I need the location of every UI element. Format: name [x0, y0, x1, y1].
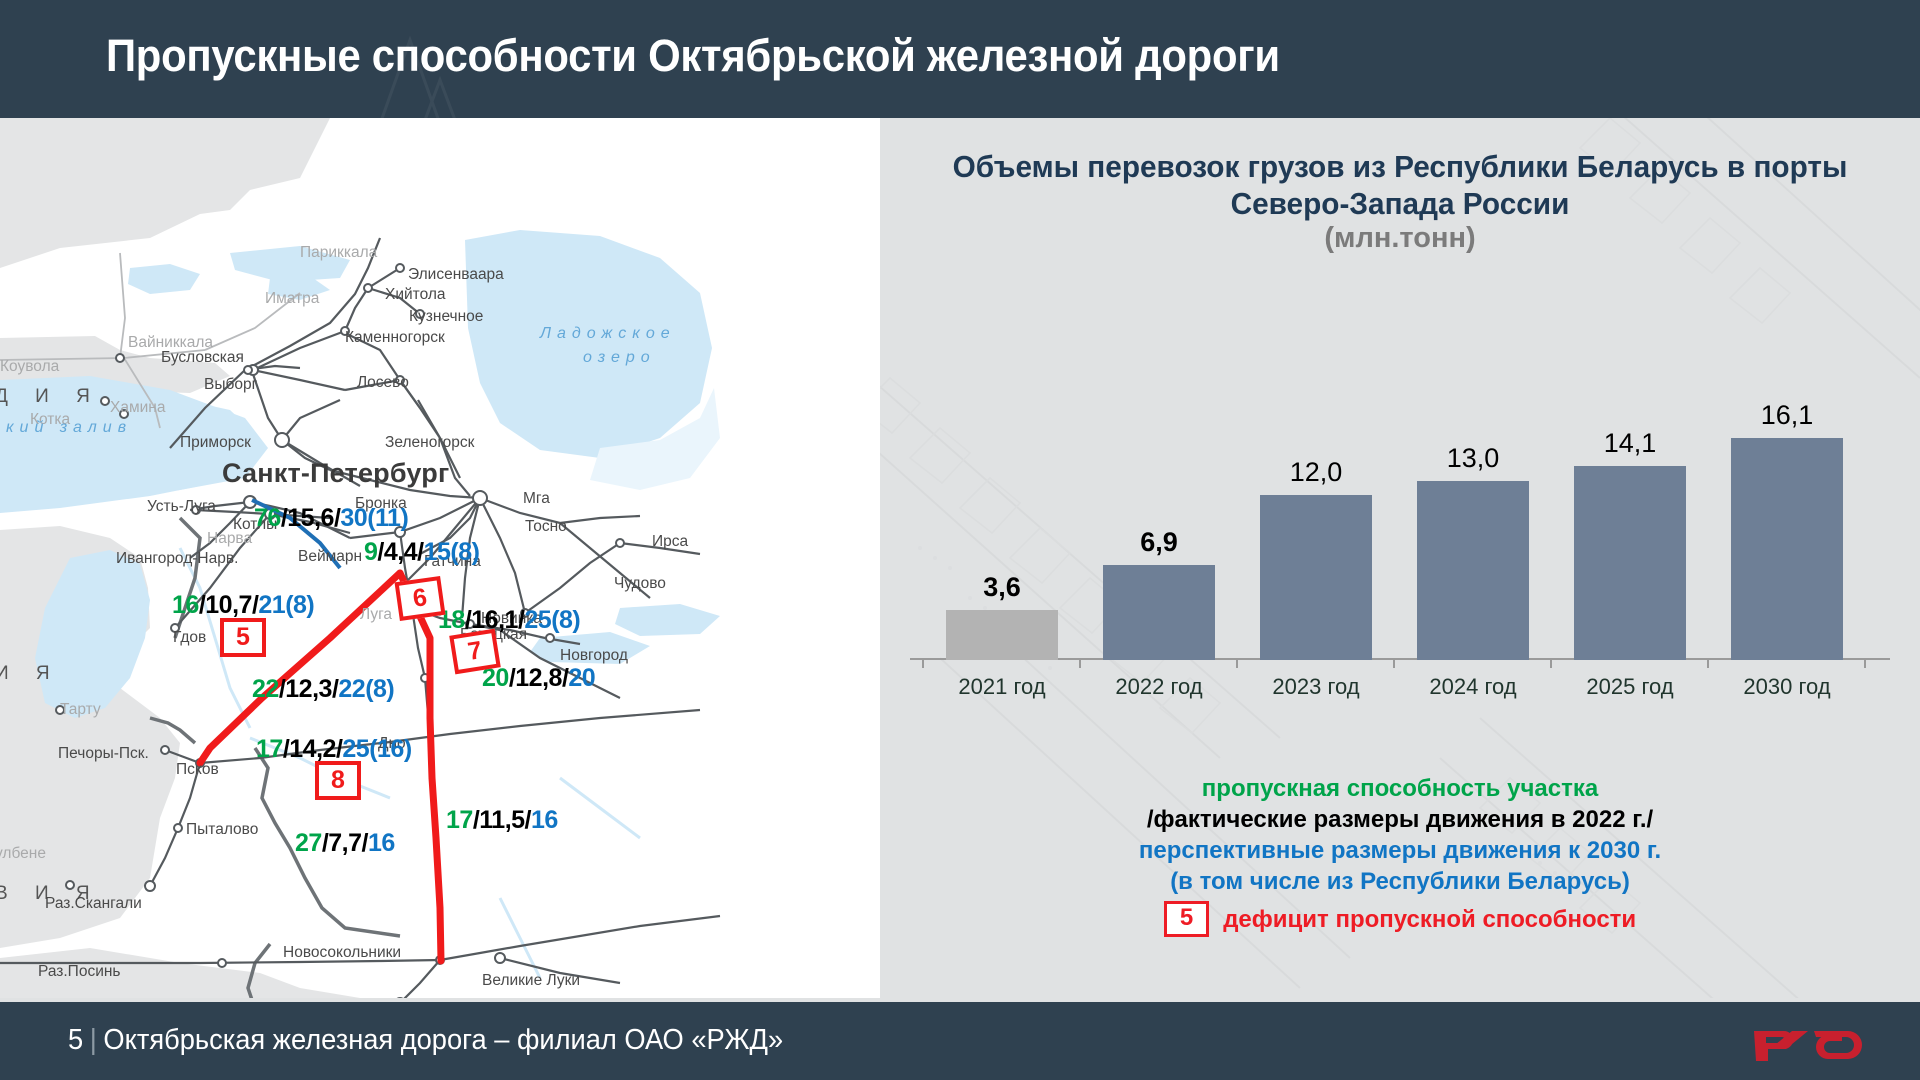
annot-forecast: 25(8) — [524, 606, 580, 634]
annot-vluki: 17/11,5/16 — [446, 806, 558, 835]
legend-line-deficit: дефицит пропускной способности — [1223, 904, 1636, 935]
map-deficit-box: 7 — [449, 629, 500, 675]
annot-gdov: 16/10,7/21(8) — [172, 591, 314, 620]
axis-tick — [1079, 659, 1081, 668]
annot-capacity: 76 — [254, 504, 281, 532]
annot-actual: 4,4 — [384, 538, 417, 566]
annot-capacity: 17 — [446, 806, 473, 834]
annot-actual: 12,3 — [285, 675, 332, 703]
category-label: 2024 год — [1398, 674, 1548, 700]
map-deficit-box: 5 — [220, 618, 266, 657]
annot-nevel: 27/7,7/16 — [295, 829, 395, 858]
annot-actual: 11,5 — [479, 806, 524, 834]
annot-actual: 10,7 — [205, 591, 252, 619]
annot-pytalovo: 17/14,2/25(16) — [256, 735, 412, 764]
annot-pskov: 22/12,3/22(8) — [252, 675, 394, 704]
annot-capacity: 9 — [364, 538, 377, 566]
legend-line-actual: /фактические размеры движения в 2022 г./ — [910, 804, 1890, 835]
bar-rect[interactable] — [946, 610, 1058, 660]
bar-value-label: 6,9 — [1140, 527, 1178, 558]
category-label: 2030 год — [1712, 674, 1862, 700]
footer-org-name: Октябрьская железная дорога – филиал ОАО… — [103, 1024, 783, 1056]
bar-rect[interactable] — [1731, 438, 1843, 660]
footer-separator: | — [83, 1024, 103, 1056]
annot-forecast: 16 — [531, 806, 558, 834]
chart-subtitle: (млн.тонн) — [910, 222, 1890, 255]
bar-column[interactable]: 6,9 — [1103, 527, 1215, 660]
footer-caption: 5|Октябрьская железная дорога – филиал О… — [68, 1024, 783, 1057]
axis-tick — [1707, 659, 1709, 668]
axis-tick — [1236, 659, 1238, 668]
bar-rect[interactable] — [1417, 481, 1529, 660]
page-title: Пропускные способности Октябрьской желез… — [106, 30, 1280, 82]
slide-root: Пропускные способности Октябрьской желез… — [0, 0, 1920, 1080]
annot-forecast: 25(16) — [342, 735, 411, 763]
annot-forecast: 16 — [368, 829, 395, 857]
map-panel[interactable]: КоуволаВайниккалаБусловскаяИматраПарикка… — [0, 118, 880, 998]
annot-forecast: 30(11) — [340, 504, 408, 532]
axis-tick — [1393, 659, 1395, 668]
annot-veymarn: 76/15,6/30(11) — [254, 504, 408, 533]
slide-footer: 5|Октябрьская железная дорога – филиал О… — [0, 1002, 1920, 1080]
rzd-logo-icon — [1752, 1021, 1874, 1061]
legend-line-forecast: перспективные размеры движения к 2030 г. — [910, 835, 1890, 866]
footer-page-number: 5 — [68, 1024, 83, 1056]
legend-line-belarus: (в том числе из Республики Беларусь) — [910, 866, 1890, 897]
bar-value-label: 13,0 — [1447, 443, 1500, 474]
legend-line-capacity: пропускная способность участка — [910, 773, 1890, 804]
bar-column[interactable]: 13,0 — [1417, 443, 1529, 660]
annot-dno-east: 20/12,8/20 — [482, 664, 595, 693]
slide-header: Пропускные способности Октябрьской желез… — [0, 0, 1920, 118]
annot-actual: 7,7 — [328, 829, 361, 857]
bar-rect[interactable] — [1103, 565, 1215, 660]
annot-capacity: 22 — [252, 675, 279, 703]
category-label: 2021 год — [927, 674, 1077, 700]
bar-value-label: 16,1 — [1761, 400, 1814, 431]
annot-forecast: 15(8) — [424, 538, 480, 566]
annot-capacity: 16 — [172, 591, 199, 619]
annot-luga: 9/4,4/15(8) — [364, 538, 479, 567]
bar-column[interactable]: 14,1 — [1574, 428, 1686, 660]
annot-actual: 12,8 — [515, 664, 562, 692]
category-label: 2025 год — [1555, 674, 1705, 700]
bar-column[interactable]: 12,0 — [1260, 457, 1372, 660]
axis-tick — [1864, 659, 1866, 668]
annot-forecast: 20 — [568, 664, 595, 692]
annot-batetsk: 18/16,1/25(8) — [438, 606, 580, 635]
axis-tick — [922, 659, 924, 668]
annot-actual: 15,6 — [287, 504, 334, 532]
bar-value-label: 12,0 — [1290, 457, 1343, 488]
bar-chart: 3,66,912,013,014,116,1 2021 год2022 год2… — [910, 278, 1890, 708]
axis-tick — [1550, 659, 1552, 668]
map-deficit-box: 6 — [395, 576, 446, 621]
annot-forecast: 22(8) — [338, 675, 394, 703]
bar-column[interactable]: 3,6 — [946, 572, 1058, 660]
category-label: 2023 год — [1241, 674, 1391, 700]
annot-capacity: 27 — [295, 829, 322, 857]
right-panel: Объемы перевозок грузов из Республики Бе… — [880, 118, 1920, 998]
annot-forecast: 21(8) — [258, 591, 314, 619]
bar-value-label: 14,1 — [1604, 428, 1657, 459]
legend-deficit-box: 5 — [1164, 901, 1209, 937]
bar-column[interactable]: 16,1 — [1731, 400, 1843, 660]
bar-rect[interactable] — [1260, 495, 1372, 660]
category-label: 2022 год — [1084, 674, 1234, 700]
map-deficit-box: 8 — [315, 761, 361, 800]
annot-actual: 14,2 — [289, 735, 336, 763]
map-legend: пропускная способность участка /фактичес… — [910, 773, 1890, 937]
annot-capacity: 17 — [256, 735, 283, 763]
chart-title: Объемы перевозок грузов из Республики Бе… — [930, 148, 1871, 222]
bar-value-label: 3,6 — [983, 572, 1021, 603]
bar-rect[interactable] — [1574, 466, 1686, 660]
